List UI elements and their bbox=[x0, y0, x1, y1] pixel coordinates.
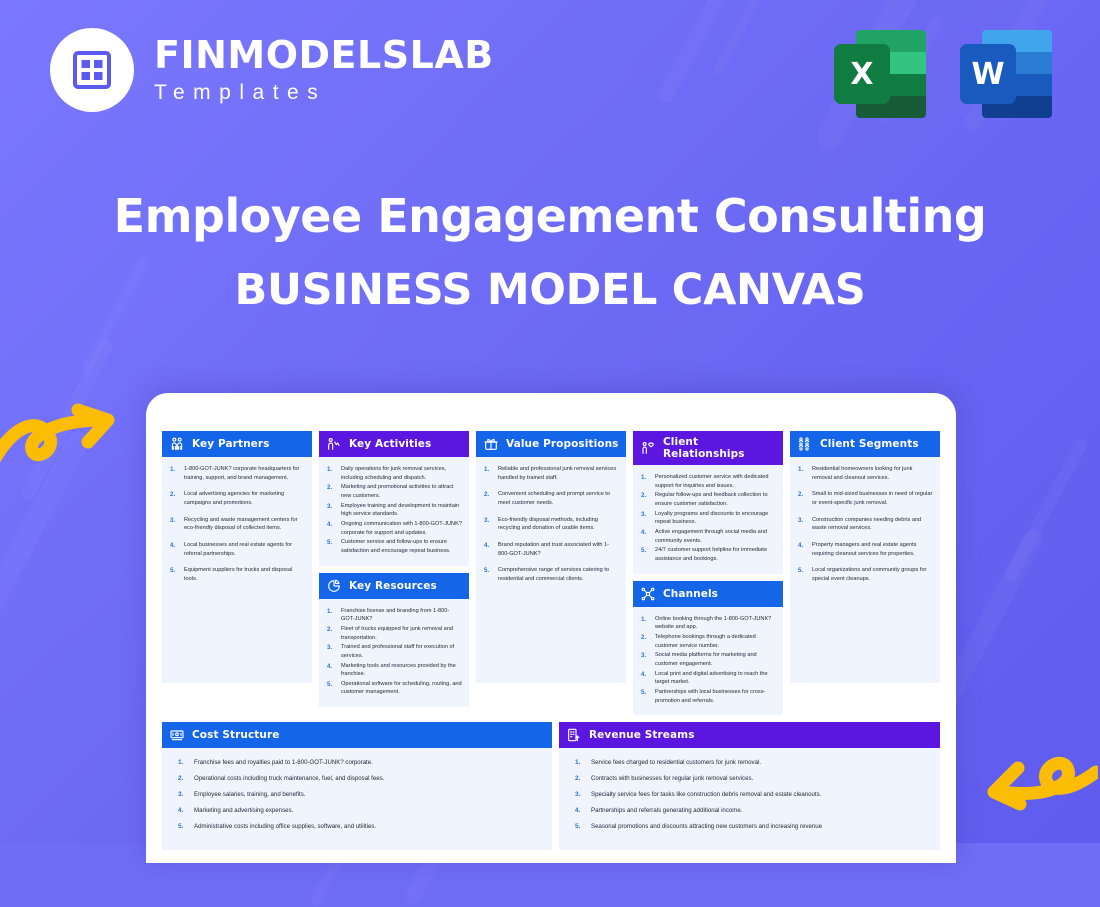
list-item: Reliable and professional junk removal s… bbox=[481, 465, 619, 482]
block-item-list: Online booking through the 1-800-GOT-JUN… bbox=[638, 615, 776, 706]
block-cost-structure[interactable]: Cost Structure Franchise fees and royalt… bbox=[162, 722, 552, 850]
block-title: Client Segments bbox=[820, 438, 919, 450]
block-body: Franchise license and branding from 1-80… bbox=[319, 599, 469, 708]
list-item: Marketing and promotional activities to … bbox=[324, 483, 462, 500]
title-block: Employee Engagement Consulting BUSINESS … bbox=[0, 190, 1100, 315]
list-item: Personalized customer service with dedic… bbox=[638, 473, 776, 490]
list-item: Small to mid-sized businesses in need of… bbox=[795, 490, 933, 507]
block-title: Channels bbox=[663, 588, 718, 600]
block-title: Key Resources bbox=[349, 580, 437, 592]
block-header: Client Segments bbox=[790, 431, 940, 457]
list-item: 24/7 customer support helpline for immed… bbox=[638, 546, 776, 563]
block-title: Key Partners bbox=[192, 438, 270, 450]
word-icon[interactable]: W bbox=[960, 28, 1052, 120]
canvas-top-row: Key Partners 1-800-GOT-JUNK? corporate h… bbox=[162, 431, 940, 715]
list-item: Equipment suppliers for trucks and dispo… bbox=[167, 566, 305, 583]
list-item: Ongoing communication with 1-800-GOT-JUN… bbox=[324, 520, 462, 537]
block-channels[interactable]: Channels Online booking through the 1-80… bbox=[633, 581, 783, 716]
canvas-column-3: Value Propositions Reliable and professi… bbox=[476, 431, 626, 683]
block-title: Key Activities bbox=[349, 438, 431, 450]
person-heart-icon bbox=[640, 440, 656, 456]
block-body: Franchise fees and royalties paid to 1-8… bbox=[162, 748, 552, 850]
person-activity-icon bbox=[326, 436, 342, 452]
list-item: Eco-friendly disposal methods, including… bbox=[481, 516, 619, 533]
list-item: Active engagement through social media a… bbox=[638, 528, 776, 545]
list-item: Recycling and waste management centers f… bbox=[167, 516, 305, 533]
block-body: Daily operations for junk removal servic… bbox=[319, 457, 469, 566]
list-item: Seasonal promotions and discounts attrac… bbox=[565, 822, 930, 831]
pie-chart-icon bbox=[326, 578, 342, 594]
canvas-column-1: Key Partners 1-800-GOT-JUNK? corporate h… bbox=[162, 431, 312, 683]
list-item: Marketing tools and resources provided b… bbox=[324, 662, 462, 679]
canvas-bottom-row: Cost Structure Franchise fees and royalt… bbox=[162, 722, 940, 850]
block-value-propositions[interactable]: Value Propositions Reliable and professi… bbox=[476, 431, 626, 683]
list-item: Marketing and advertising expenses. bbox=[168, 806, 542, 815]
list-item: Partnerships and referrals generating ad… bbox=[565, 806, 930, 815]
block-title: Client Relationships bbox=[663, 436, 776, 460]
block-body: Personalized customer service with dedic… bbox=[633, 465, 783, 574]
block-item-list: Daily operations for junk removal servic… bbox=[324, 465, 462, 556]
list-item: Property managers and real estate agents… bbox=[795, 541, 933, 558]
list-item: Employee salaries, training, and benefit… bbox=[168, 790, 542, 799]
people-group-icon bbox=[797, 436, 813, 452]
block-item-list: Franchise license and branding from 1-80… bbox=[324, 607, 462, 698]
block-header: Key Activities bbox=[319, 431, 469, 457]
list-item: Online booking through the 1-800-GOT-JUN… bbox=[638, 615, 776, 632]
brand-name: FINMODELSLAB bbox=[154, 36, 494, 74]
brand-tagline: Templates bbox=[154, 81, 494, 105]
block-title: Cost Structure bbox=[192, 729, 280, 741]
list-item: Local organizations and community groups… bbox=[795, 566, 933, 583]
network-hub-icon bbox=[640, 586, 656, 602]
page-subtitle: BUSINESS MODEL CANVAS bbox=[0, 265, 1100, 315]
list-item: Operational software for scheduling, rou… bbox=[324, 680, 462, 697]
block-item-list: Reliable and professional junk removal s… bbox=[481, 465, 619, 584]
word-letter: W bbox=[960, 44, 1016, 104]
list-item: Brand reputation and trust associated wi… bbox=[481, 541, 619, 558]
block-key-partners[interactable]: Key Partners 1-800-GOT-JUNK? corporate h… bbox=[162, 431, 312, 683]
block-item-list: Service fees charged to residential cust… bbox=[565, 758, 930, 831]
block-header: Revenue Streams bbox=[559, 722, 940, 748]
canvas-column-4: Client Relationships Personalized custom… bbox=[633, 431, 783, 715]
two-people-icon bbox=[169, 436, 185, 452]
block-header: Key Resources bbox=[319, 573, 469, 599]
block-header: Client Relationships bbox=[633, 431, 783, 465]
list-item: Social media platforms for marketing and… bbox=[638, 651, 776, 668]
list-item: Regular follow-ups and feedback collecti… bbox=[638, 491, 776, 508]
list-item: Customer service and follow-ups to ensur… bbox=[324, 538, 462, 555]
money-bill-icon bbox=[169, 727, 185, 743]
list-item: Specialty service fees for tasks like co… bbox=[565, 790, 930, 799]
list-item: Fleet of trucks equipped for junk remova… bbox=[324, 625, 462, 642]
block-body: 1-800-GOT-JUNK? corporate headquarters f… bbox=[162, 457, 312, 601]
revenue-chart-icon bbox=[566, 727, 582, 743]
list-item: Loyalty programs and discounts to encour… bbox=[638, 510, 776, 527]
block-header: Cost Structure bbox=[162, 722, 552, 748]
block-header: Channels bbox=[633, 581, 783, 607]
list-item: Service fees charged to residential cust… bbox=[565, 758, 930, 767]
block-item-list: Franchise fees and royalties paid to 1-8… bbox=[168, 758, 542, 831]
block-title: Value Propositions bbox=[506, 438, 619, 450]
tablet-frame: Key Partners 1-800-GOT-JUNK? corporate h… bbox=[146, 393, 956, 863]
block-key-activities[interactable]: Key Activities Daily operations for junk… bbox=[319, 431, 469, 566]
list-item: Employee training and development to mai… bbox=[324, 502, 462, 519]
office-format-icons: X W bbox=[834, 28, 1052, 120]
block-item-list: Personalized customer service with dedic… bbox=[638, 473, 776, 564]
canvas-column-5: Client Segments Residential homeowners l… bbox=[790, 431, 940, 683]
grid-window-icon bbox=[50, 28, 134, 112]
arrow-up-right-icon bbox=[0, 398, 127, 495]
block-title: Revenue Streams bbox=[589, 729, 695, 741]
list-item: Franchise license and branding from 1-80… bbox=[324, 607, 462, 624]
excel-letter: X bbox=[834, 44, 890, 104]
list-item: Local advertising agencies for marketing… bbox=[167, 490, 305, 507]
page-title: Employee Engagement Consulting bbox=[0, 190, 1100, 243]
list-item: 1-800-GOT-JUNK? corporate headquarters f… bbox=[167, 465, 305, 482]
block-body: Online booking through the 1-800-GOT-JUN… bbox=[633, 607, 783, 716]
brand-logo[interactable]: FINMODELSLAB Templates bbox=[50, 28, 494, 112]
list-item: Convenient scheduling and prompt service… bbox=[481, 490, 619, 507]
list-item: Local businesses and real estate agents … bbox=[167, 541, 305, 558]
block-item-list: Residential homeowners looking for junk … bbox=[795, 465, 933, 584]
block-header: Value Propositions bbox=[476, 431, 626, 457]
block-key-resources[interactable]: Key Resources Franchise license and bran… bbox=[319, 573, 469, 708]
list-item: Construction companies needing debris an… bbox=[795, 516, 933, 533]
block-revenue-streams[interactable]: Revenue Streams Service fees charged to … bbox=[559, 722, 940, 850]
canvas-column-2: Key Activities Daily operations for junk… bbox=[319, 431, 469, 707]
block-header: Key Partners bbox=[162, 431, 312, 457]
block-body: Service fees charged to residential cust… bbox=[559, 748, 940, 850]
list-item: Contracts with businesses for regular ju… bbox=[565, 774, 930, 783]
list-item: Local print and digital advertising to r… bbox=[638, 670, 776, 687]
block-client-relationships[interactable]: Client Relationships Personalized custom… bbox=[633, 431, 783, 574]
list-item: Operational costs including truck mainte… bbox=[168, 774, 542, 783]
list-item: Administrative costs including office su… bbox=[168, 822, 542, 831]
block-client-segments[interactable]: Client Segments Residential homeowners l… bbox=[790, 431, 940, 683]
list-item: Trained and professional staff for execu… bbox=[324, 643, 462, 660]
excel-icon[interactable]: X bbox=[834, 28, 926, 120]
list-item: Comprehensive range of services catering… bbox=[481, 566, 619, 583]
block-item-list: 1-800-GOT-JUNK? corporate headquarters f… bbox=[167, 465, 305, 584]
block-body: Reliable and professional junk removal s… bbox=[476, 457, 626, 601]
list-item: Franchise fees and royalties paid to 1-8… bbox=[168, 758, 542, 767]
list-item: Telephone bookings through a dedicated c… bbox=[638, 633, 776, 650]
gift-icon bbox=[483, 436, 499, 452]
block-body: Residential homeowners looking for junk … bbox=[790, 457, 940, 601]
list-item: Daily operations for junk removal servic… bbox=[324, 465, 462, 482]
arrow-down-left-icon bbox=[972, 742, 1098, 833]
list-item: Residential homeowners looking for junk … bbox=[795, 465, 933, 482]
list-item: Partnerships with local businesses for c… bbox=[638, 688, 776, 705]
business-model-canvas: Key Partners 1-800-GOT-JUNK? corporate h… bbox=[162, 431, 940, 850]
page-header: FINMODELSLAB Templates X W bbox=[0, 0, 1100, 150]
